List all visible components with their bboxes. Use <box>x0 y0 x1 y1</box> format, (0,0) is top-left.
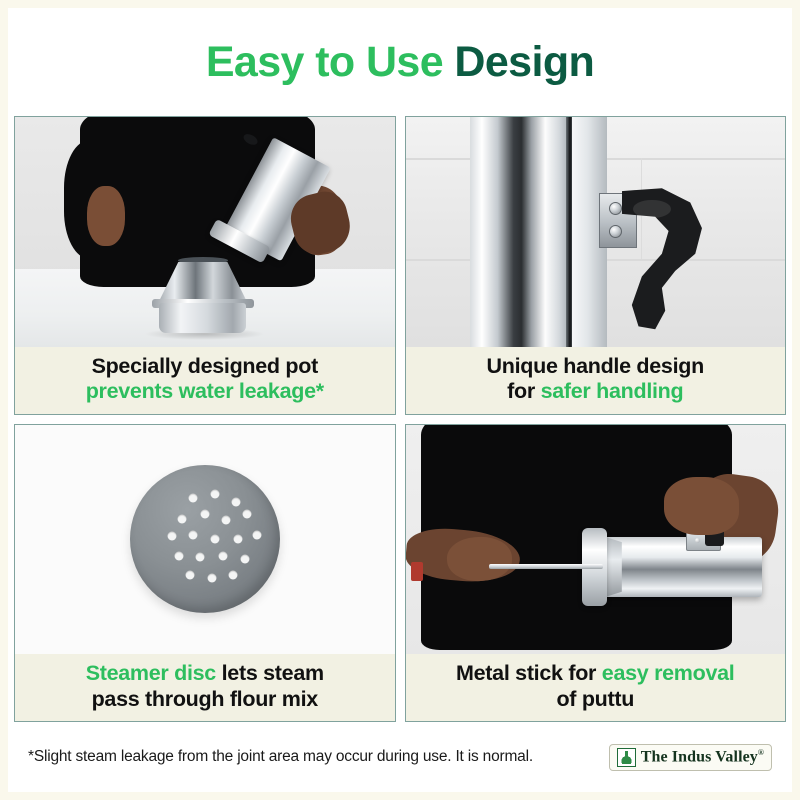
steamer-hole <box>185 570 194 579</box>
photo-metal-stick-removal <box>406 425 786 655</box>
photo-steamer-disc <box>15 425 395 655</box>
steamer-hole <box>200 510 209 519</box>
steamer-hole <box>208 573 217 582</box>
feature-card-specially-designed-pot: Specially designed pot prevents water le… <box>14 116 396 415</box>
rivet-bottom <box>609 225 622 238</box>
caption-steamer-disc: Steamer disc lets steam pass through flo… <box>15 654 395 721</box>
caption-line-2: of puttu <box>412 687 780 712</box>
indus-valley-emblem-icon <box>617 748 636 767</box>
steamer-hole <box>196 553 205 562</box>
caption-metal-stick-removal: Metal stick for easy removal of puttu <box>406 654 786 721</box>
caption-line-2: pass through flour mix <box>21 687 389 712</box>
brand-name: The Indus Valley® <box>641 748 764 766</box>
caption-line-2: prevents water leakage* <box>21 379 389 404</box>
steamer-hole <box>218 551 227 560</box>
plate-rivet-right <box>695 538 700 543</box>
caption-specially-designed-pot: Specially designed pot prevents water le… <box>15 347 395 414</box>
steamer-hole <box>233 535 242 544</box>
rivet-top <box>609 202 622 215</box>
registered-mark: ® <box>758 748 764 757</box>
feature-card-metal-stick-removal: Metal stick for easy removal of puttu <box>405 424 787 723</box>
brand-name-text: The Indus Valley <box>641 748 758 765</box>
steamer-disc-object <box>130 465 280 613</box>
feature-grid: Specially designed pot prevents water le… <box>8 116 792 722</box>
left-forearm <box>87 186 125 246</box>
steamer-hole <box>211 535 220 544</box>
caption-line-1-rest: lets steam <box>216 661 324 685</box>
steamer-hole <box>188 530 197 539</box>
caption-line-1-highlight: easy removal <box>602 661 735 685</box>
caption-line-2-prefix: for <box>507 379 540 403</box>
photo-unique-handle-design <box>406 117 786 347</box>
wrist-band <box>411 562 422 580</box>
steamer-hole <box>178 514 187 523</box>
right-fist <box>664 477 740 534</box>
handle-highlight <box>633 200 671 218</box>
brand-logo: The Indus Valley® <box>609 744 772 771</box>
steamer-hole <box>221 516 230 525</box>
steamer-hole <box>253 530 262 539</box>
caption-line-1: Specially designed pot <box>21 354 389 379</box>
steamer-hole <box>167 532 176 541</box>
footnote-text: *Slight steam leakage from the joint are… <box>28 748 533 766</box>
page-title: Easy to Use Design <box>8 8 792 116</box>
caption-line-2-highlight: safer handling <box>541 379 684 403</box>
footer: *Slight steam leakage from the joint are… <box>8 722 792 792</box>
pot-body <box>159 303 246 333</box>
steamer-hole <box>241 554 250 563</box>
feature-card-steamer-disc: Steamer disc lets steam pass through flo… <box>14 424 396 723</box>
infographic-page: Easy to Use Design <box>0 0 800 800</box>
photo-specially-designed-pot <box>15 117 395 347</box>
caption-line-1-highlight: Steamer disc <box>86 661 216 685</box>
steamer-hole <box>242 510 251 519</box>
metal-stick <box>489 564 603 569</box>
steamer-hole <box>229 570 238 579</box>
steamer-hole <box>211 489 220 498</box>
title-part-dark: Design <box>454 38 594 86</box>
caption-line-1: Unique handle design <box>412 354 780 379</box>
steamer-hole <box>188 493 197 502</box>
content-canvas: Easy to Use Design <box>8 8 792 792</box>
caption-line-1-prefix: Metal stick for <box>456 661 602 685</box>
title-part-green: Easy to Use <box>206 38 455 86</box>
steamer-hole <box>232 498 241 507</box>
steamer-hole <box>175 551 184 560</box>
chrome-cylinder <box>470 117 569 347</box>
caption-unique-handle-design: Unique handle design for safer handling <box>406 347 786 414</box>
feature-card-unique-handle-design: Unique handle design for safer handling <box>405 116 787 415</box>
